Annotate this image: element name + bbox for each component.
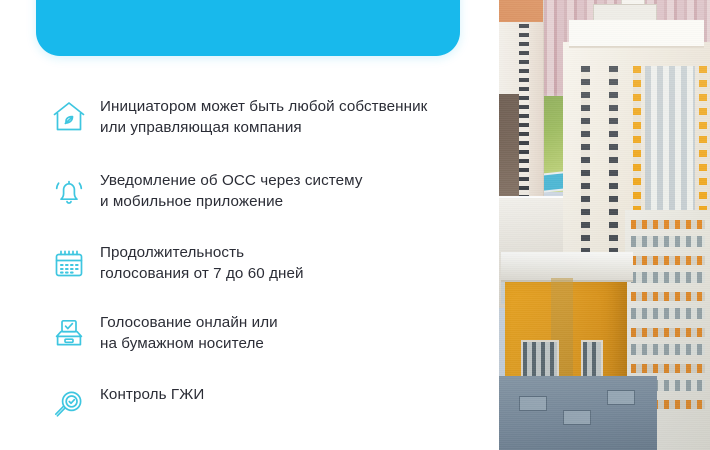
poster-root: ОНЛАЙН Инициатором может быть любой собс…: [0, 0, 710, 450]
feature-line-2: и мобильное приложение: [100, 192, 476, 213]
building-photo: [497, 0, 710, 450]
feature-line-1: Уведомление об ОСС через систему: [100, 171, 476, 192]
feature-line-2: или управляющая компания: [100, 118, 476, 139]
feature-text: Уведомление об ОСС через систему и мобил…: [100, 168, 476, 212]
feature-list: Инициатором может быть любой собственник…: [46, 94, 476, 428]
feature-line-1: Инициатором может быть любой собственник: [100, 97, 476, 118]
photo-window-row: [631, 236, 705, 247]
feature-text: Инициатором может быть любой собственник…: [100, 94, 476, 138]
photo-left-tower-cap: [497, 0, 543, 22]
photo-roof-vent: [519, 396, 547, 411]
photo-roof-slab: [569, 20, 704, 48]
feature-text: Контроль ГЖИ: [100, 382, 476, 406]
feature-item-initiator: Инициатором может быть любой собственник…: [46, 94, 476, 140]
feature-line-2: на бумажном носителе: [100, 334, 476, 355]
photo-foreground-roof: [497, 376, 657, 450]
bell-icon: [46, 168, 92, 214]
calendar-icon: [46, 240, 92, 286]
photo-roof-vent: [563, 410, 591, 425]
feature-item-control: Контроль ГЖИ: [46, 382, 476, 428]
ballot-box-icon: [46, 310, 92, 356]
photo-balcony-row: [631, 256, 705, 265]
content-column: ОНЛАЙН Инициатором может быть любой собс…: [0, 0, 497, 450]
photo-left-tower-windows: [519, 24, 529, 208]
photo-stage: [497, 0, 710, 450]
magnifier-check-icon: [46, 382, 92, 428]
photo-window-row: [631, 344, 705, 355]
feature-line-1: Голосование онлайн или: [100, 313, 476, 334]
photo-left-edge: [497, 0, 499, 450]
feature-line-1: Контроль ГЖИ: [100, 385, 476, 406]
page-title: ОНЛАЙН: [145, 0, 352, 4]
feature-item-notification: Уведомление об ОСС через систему и мобил…: [46, 168, 476, 214]
feature-text: Продолжительность голосования от 7 до 60…: [100, 240, 476, 284]
feature-text: Голосование онлайн или на бумажном носит…: [100, 310, 476, 354]
feature-line-2: голосования от 7 до 60 дней: [100, 264, 476, 285]
feature-item-voting-method: Голосование онлайн или на бумажном носит…: [46, 310, 476, 356]
photo-window-row: [631, 308, 705, 319]
photo-balcony-row: [631, 328, 705, 337]
photo-roof-vent: [607, 390, 635, 405]
photo-balcony-row: [631, 220, 705, 229]
house-leaf-icon: [46, 94, 92, 140]
photo-window-row: [631, 272, 705, 283]
feature-line-1: Продолжительность: [100, 243, 476, 264]
photo-balcony-row: [631, 364, 705, 373]
feature-item-duration: Продолжительность голосования от 7 до 60…: [46, 240, 476, 286]
title-banner: ОНЛАЙН: [36, 0, 460, 56]
photo-balcony-row: [631, 292, 705, 301]
photo-left-tower: [497, 0, 544, 215]
